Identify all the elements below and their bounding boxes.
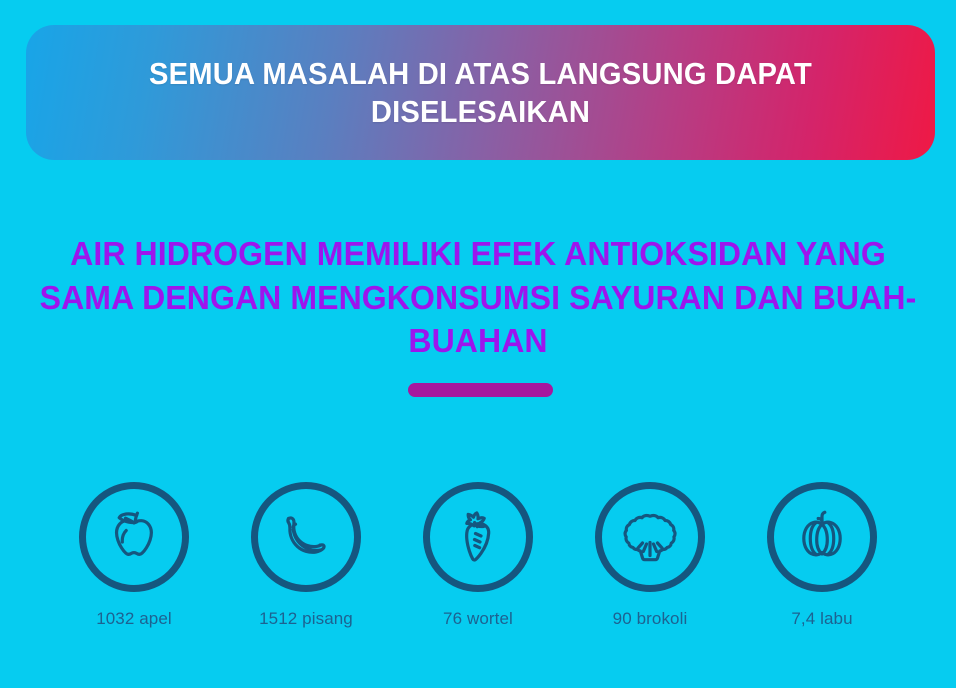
pumpkin-circle: [767, 482, 877, 592]
section-divider: [408, 383, 553, 397]
apple-icon: [97, 500, 171, 574]
pumpkin-icon: [785, 500, 859, 574]
broccoli-icon: [613, 500, 687, 574]
icon-label-pumpkin: 7,4 labu: [791, 609, 852, 629]
page-headline: AIR HIDROGEN MEMILIKI EFEK ANTIOKSIDAN Y…: [36, 232, 921, 363]
icon-item-apple: 1032 apel: [48, 482, 220, 629]
banner-title: SEMUA MASALAH DI ATAS LANGSUNG DAPAT DIS…: [95, 55, 867, 131]
icon-item-carrot: 76 wortel: [392, 482, 564, 629]
icon-label-broccoli: 90 brokoli: [613, 609, 688, 629]
broccoli-circle: [595, 482, 705, 592]
equivalence-icon-row: 1032 apel 1512 pisang: [48, 482, 908, 629]
carrot-circle: [423, 482, 533, 592]
icon-label-carrot: 76 wortel: [443, 609, 513, 629]
icon-label-apple: 1032 apel: [96, 609, 172, 629]
icon-label-banana: 1512 pisang: [259, 609, 353, 629]
icon-item-pumpkin: 7,4 labu: [736, 482, 908, 629]
banana-circle: [251, 482, 361, 592]
icon-item-broccoli: 90 brokoli: [564, 482, 736, 629]
banana-icon: [269, 500, 343, 574]
apple-circle: [79, 482, 189, 592]
icon-item-banana: 1512 pisang: [220, 482, 392, 629]
carrot-icon: [441, 500, 515, 574]
headline-banner: SEMUA MASALAH DI ATAS LANGSUNG DAPAT DIS…: [26, 25, 935, 160]
